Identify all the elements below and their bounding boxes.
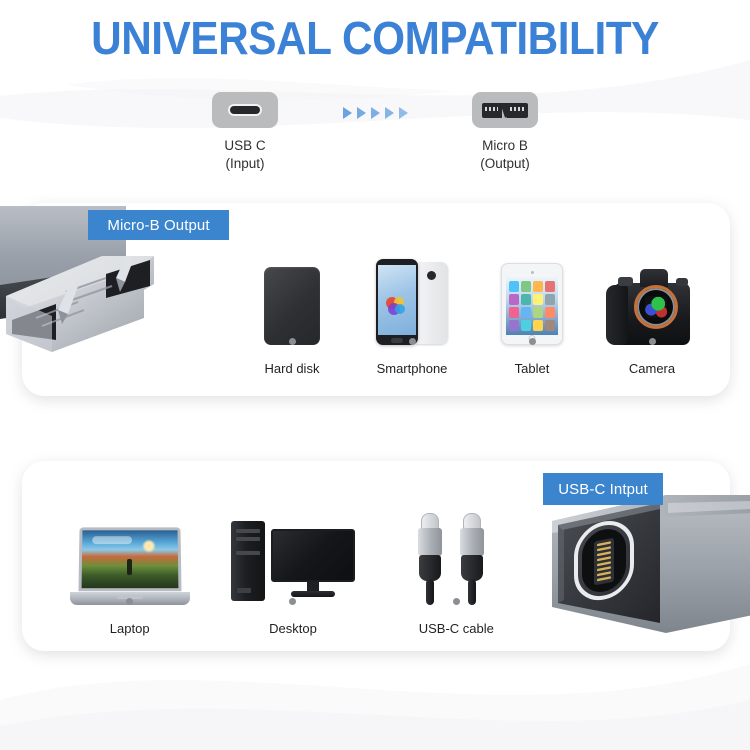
arrow-right-icon bbox=[357, 107, 366, 119]
laptop-icon bbox=[70, 527, 190, 605]
device-label: Desktop bbox=[269, 621, 317, 636]
device-item-tablet: Tablet bbox=[472, 226, 592, 376]
device-item-camera: Camera bbox=[592, 226, 712, 376]
page-title-container: UNIVERSAL COMPATIBILITY bbox=[0, 14, 750, 62]
device-item-usb-c-cable: USB-C cable bbox=[375, 486, 538, 636]
micro-b-port-icon bbox=[472, 92, 538, 128]
arrow-right-icon bbox=[385, 107, 394, 119]
device-label: Laptop bbox=[110, 621, 150, 636]
device-item-desktop: Desktop bbox=[211, 486, 374, 636]
device-list-micro-b: Hard disk bbox=[232, 226, 712, 376]
desktop-computer-icon bbox=[231, 519, 355, 605]
flow-output-name: Micro B bbox=[430, 137, 580, 155]
timeline-dot bbox=[529, 338, 536, 345]
device-label: Hard disk bbox=[265, 361, 320, 376]
badge-usb-c-input: USB-C Intput bbox=[543, 473, 663, 505]
device-list-usb-c: Laptop Desktop bbox=[48, 486, 538, 636]
device-item-hard-disk: Hard disk bbox=[232, 226, 352, 376]
badge-micro-b-output: Micro-B Output bbox=[88, 210, 229, 240]
timeline-dot bbox=[409, 338, 416, 345]
device-label: Smartphone bbox=[377, 361, 448, 376]
flow-input-group: USB C (Input) bbox=[170, 92, 320, 173]
device-label: Tablet bbox=[515, 361, 550, 376]
hard-disk-icon bbox=[264, 267, 320, 345]
arrow-right-icon bbox=[399, 107, 408, 119]
arrow-right-icon bbox=[371, 107, 380, 119]
connection-flow-diagram: USB C (Input) Micro B bbox=[0, 92, 750, 173]
timeline-dot bbox=[289, 338, 296, 345]
usb-c-slot-shape bbox=[228, 104, 262, 116]
arrow-right-icon bbox=[343, 107, 352, 119]
tablet-icon bbox=[501, 263, 563, 345]
infographic-canvas: UNIVERSAL COMPATIBILITY USB C (Input) bbox=[0, 0, 750, 750]
page-title: UNIVERSAL COMPATIBILITY bbox=[30, 14, 720, 62]
smartphone-icon bbox=[376, 259, 448, 345]
flow-input-name: USB C bbox=[170, 137, 320, 155]
usb-c-cable-icon bbox=[410, 513, 502, 605]
device-label: Camera bbox=[629, 361, 675, 376]
flow-output-group: Micro B (Output) bbox=[430, 92, 580, 173]
device-item-laptop: Laptop bbox=[48, 486, 211, 636]
flow-input-qualifier: (Input) bbox=[170, 155, 320, 173]
device-label: USB-C cable bbox=[419, 621, 494, 636]
usb-c-female-port-photo bbox=[548, 487, 750, 642]
timeline-dot bbox=[649, 338, 656, 345]
timeline-dot bbox=[453, 598, 460, 605]
usb-c-port-icon bbox=[212, 92, 278, 128]
flow-output-qualifier: (Output) bbox=[430, 155, 580, 173]
micro-b-slot-shape bbox=[482, 103, 528, 118]
flow-arrow-group bbox=[320, 107, 430, 119]
camera-icon bbox=[606, 269, 698, 345]
device-item-smartphone: Smartphone bbox=[352, 226, 472, 376]
